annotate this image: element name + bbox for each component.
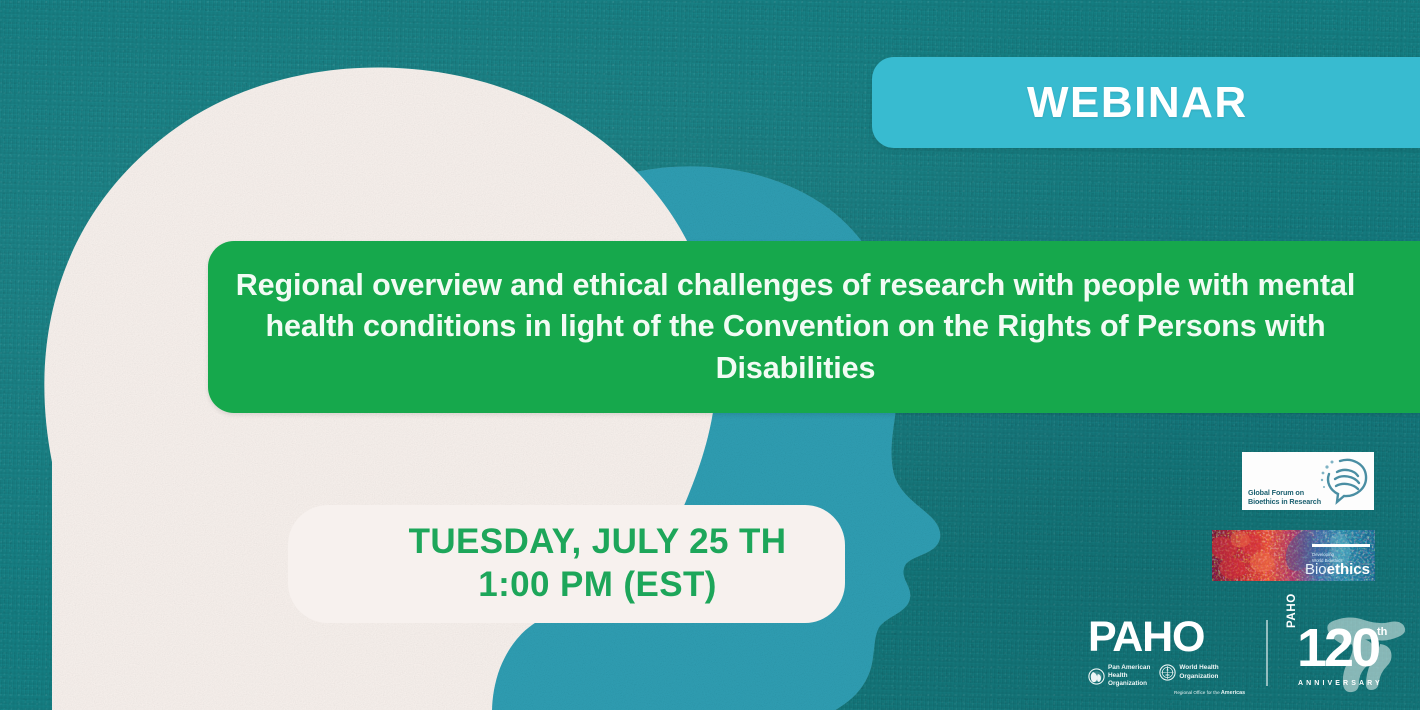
paho-org-line3: Organization [1108, 680, 1150, 688]
logo-stack: Global Forum on Bioethics in Research [1070, 448, 1420, 698]
who-regional-name: Americas [1221, 690, 1245, 696]
title-block: Regional overview and ethical challenges… [208, 241, 1420, 413]
anniversary-word: ANNIVERSARY [1298, 680, 1383, 687]
who-org-line2: Organization [1179, 673, 1218, 681]
webinar-time: 1:00 PM (EST) [478, 564, 717, 607]
who-org-block: World Health Organization [1159, 664, 1218, 681]
who-regional-prefix: Regional Office for the [1174, 690, 1220, 695]
who-regional-office: Regional Office for the Americas [1174, 690, 1256, 696]
bioethics-logo: Developing World Bioethics Bioethics [1212, 530, 1375, 581]
webinar-poster: WEBINAR Regional overview and ethical ch… [0, 0, 1420, 710]
paho-org-block: Pan American Health Organization [1088, 664, 1150, 689]
paho-org-line2: Health [1108, 672, 1150, 680]
who-org-line1: World Health [1179, 664, 1218, 672]
who-org-text: World Health Organization [1179, 664, 1218, 680]
paho-logo: PAHO Pan American Health Organization [1078, 616, 1256, 692]
webinar-title: Regional overview and ethical challenges… [228, 265, 1363, 389]
webinar-date: TUESDAY, JULY 25 TH [409, 521, 787, 564]
schedule-block: TUESDAY, JULY 25 TH 1:00 PM (EST) [288, 505, 845, 623]
paho-org-row: Pan American Health Organization Wor [1088, 664, 1256, 689]
who-emblem-icon [1159, 664, 1176, 681]
paho-org-line1: Pan American [1108, 664, 1150, 672]
paho-wordmark: PAHO [1088, 616, 1256, 659]
bioethics-word-hard: ethics [1327, 561, 1370, 578]
anniversary-number: 120 [1297, 621, 1378, 675]
paho-org-text: Pan American Health Organization [1108, 664, 1150, 689]
webinar-banner: WEBINAR [872, 57, 1420, 148]
paho-globe-icon [1088, 668, 1105, 685]
gfbr-text: Global Forum on Bioethics in Research [1248, 489, 1336, 507]
bioethics-wordmark: Bioethics [1305, 562, 1370, 577]
bioethics-word-soft: Bio [1305, 561, 1327, 578]
gfbr-line2: Bioethics in Research [1248, 498, 1336, 507]
webinar-label: WEBINAR [1027, 78, 1248, 128]
anniversary-ordinal: th [1377, 626, 1387, 638]
bioethics-rule [1312, 544, 1370, 547]
logo-divider [1266, 620, 1268, 686]
gfbr-logo: Global Forum on Bioethics in Research [1242, 452, 1374, 510]
paho-anniversary-logo: PAHO 120 th ANNIVERSARY [1284, 614, 1418, 694]
